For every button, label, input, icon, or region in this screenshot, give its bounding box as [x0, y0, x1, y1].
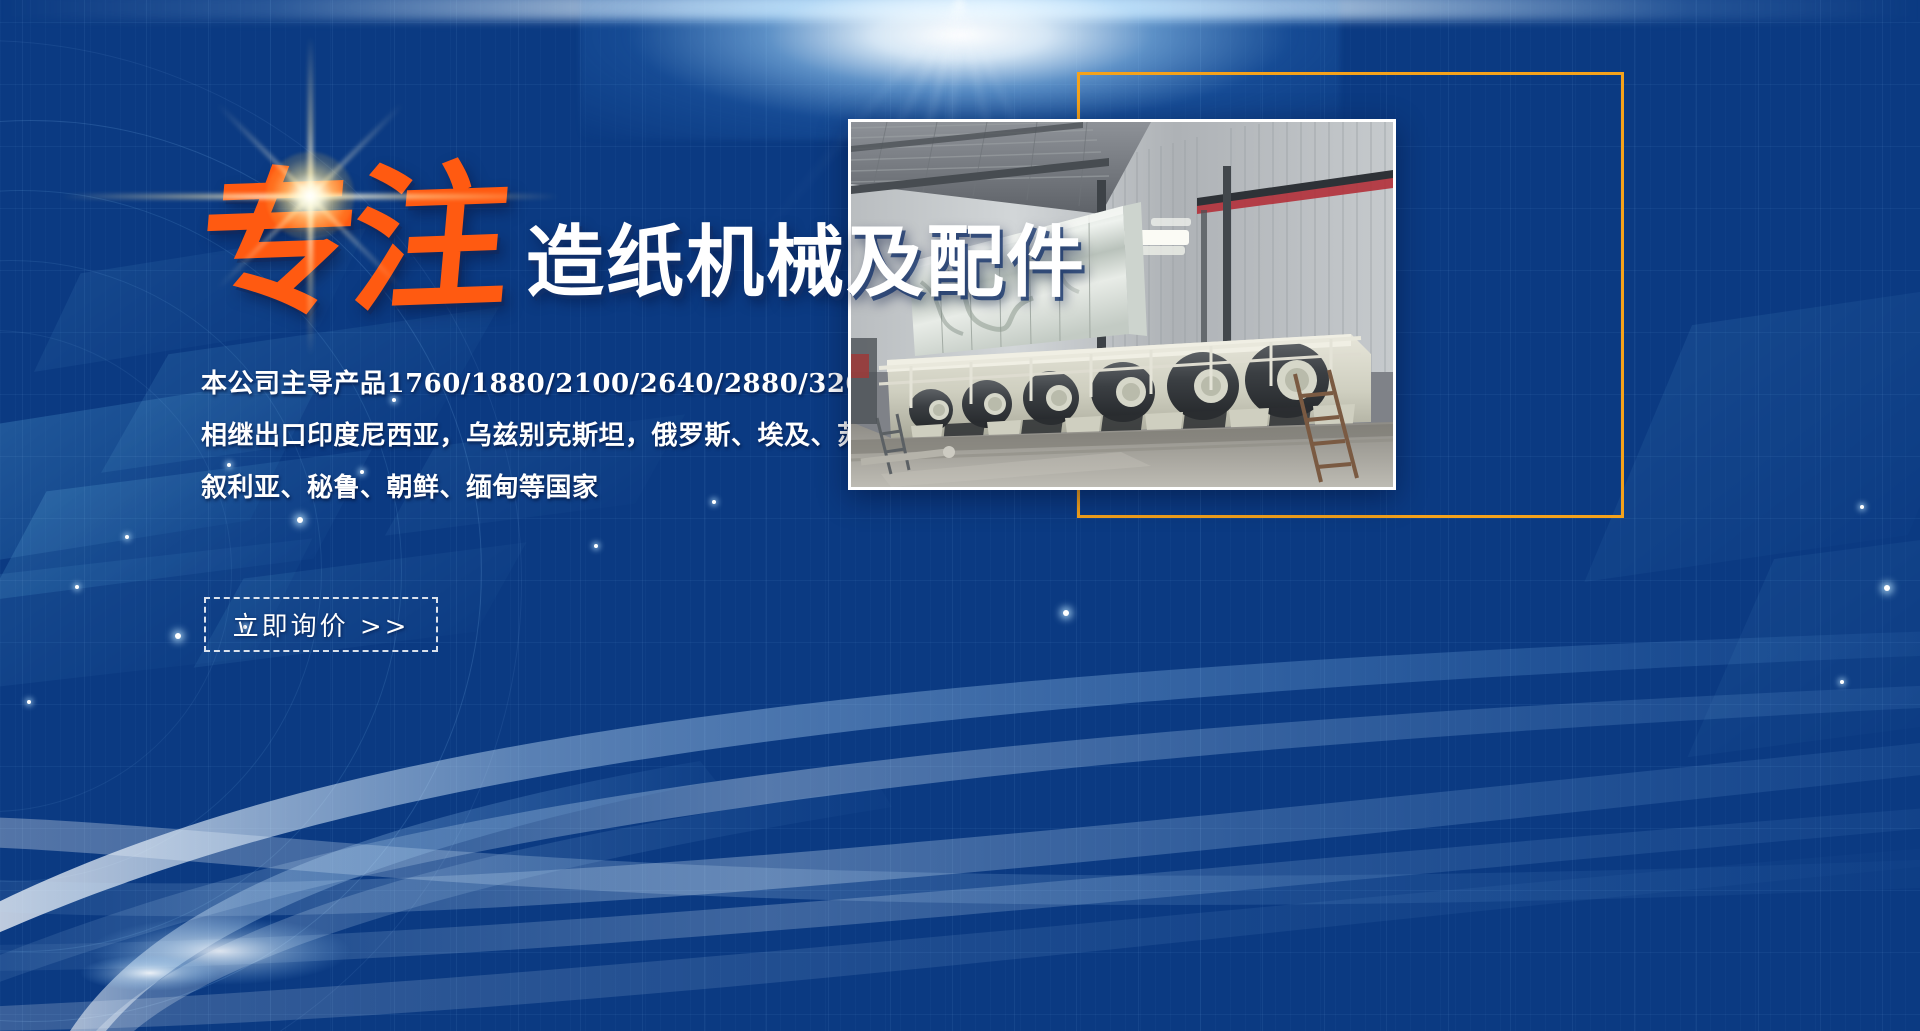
inquiry-cta-label: 立即询价 >> — [233, 606, 410, 643]
brush-title: 专注 — [193, 164, 511, 323]
promo-banner: 专注 造纸机械及配件 本公司主导产品1760/1880/2100/2640/28… — [0, 0, 1920, 1031]
inquiry-cta-button[interactable]: 立即询价 >> — [204, 597, 438, 652]
page-title: 造纸机械及配件 — [526, 224, 1086, 302]
